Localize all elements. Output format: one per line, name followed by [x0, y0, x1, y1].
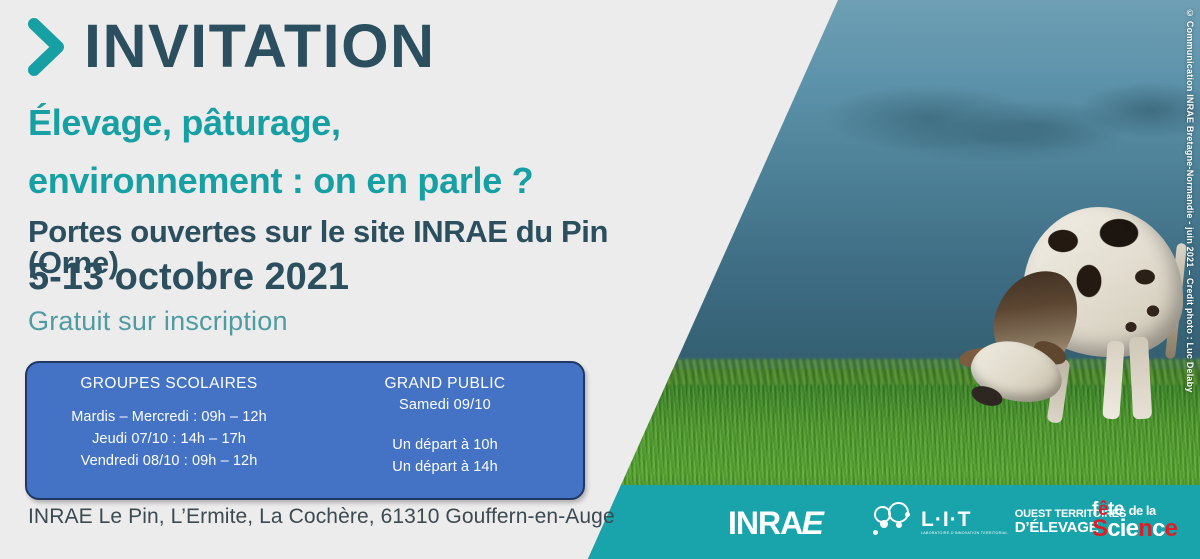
schedule-heading-public: GRAND PUBLIC [307, 375, 583, 393]
fete-line2: Science [1092, 517, 1177, 541]
subtitle-line-2: environnement : on en parle ? [28, 163, 533, 199]
schedule-line: Vendredi 08/10 : 09h – 12h [31, 451, 307, 473]
page-title: INVITATION [84, 16, 436, 77]
content-column: INVITATION Élevage, pâturage, environnem… [0, 0, 700, 559]
lit-mark-icon [872, 500, 916, 544]
fete-de-la-science-logo: fête de la Science [1092, 500, 1177, 541]
invitation-heading-row: INVITATION [28, 16, 436, 77]
schedule-subheading-public: Samedi 09/10 [307, 397, 583, 413]
lit-dot-1 [880, 520, 888, 528]
lit-dot-3 [905, 512, 910, 517]
schedule-lines-schools: Mardis – Mercredi : 09h – 12h Jeudi 07/1… [31, 407, 307, 472]
photo-credit: © Communication INRAE Bretagne-Normandie… [1185, 8, 1195, 393]
lit-letters: L·I·T [921, 509, 1008, 530]
schedule-line: Jeudi 07/10 : 14h – 17h [31, 429, 307, 451]
inrae-logo-text: INRAE [728, 505, 823, 541]
invitation-poster: © Communication INRAE Bretagne-Normandie… [0, 0, 1200, 559]
inrae-swash-e: E [802, 505, 823, 542]
lit-wordmark: L·I·T LABORATOIRE D'INNOVATION TERRITORI… [921, 509, 1008, 536]
venue-address: INRAE Le Pin, L’Ermite, La Cochère, 6131… [28, 505, 615, 529]
schedule-heading-schools: GROUPES SCOLAIRES [31, 375, 307, 393]
schedule-line: Mardis – Mercredi : 09h – 12h [31, 407, 307, 429]
schedule-column-public: GRAND PUBLIC Samedi 09/10 Un départ à 10… [307, 363, 583, 498]
lit-dot-4 [873, 530, 878, 535]
chevron-right-icon [28, 18, 68, 76]
cow-illustration [965, 191, 1195, 441]
schedule-column-schools: GROUPES SCOLAIRES Mardis – Mercredi : 09… [27, 363, 307, 498]
inrae-logo: INRAE [728, 505, 823, 542]
schedule-lines-public: Un départ à 10h Un départ à 14h [307, 435, 583, 479]
lit-dot-2 [896, 522, 902, 528]
schedule-line: Un départ à 14h [307, 457, 583, 479]
lit-caption: LABORATOIRE D'INNOVATION TERRITORIAL [921, 532, 1008, 536]
event-dates: 5-13 octobre 2021 [28, 258, 349, 296]
lit-logo: L·I·T LABORATOIRE D'INNOVATION TERRITORI… [872, 498, 1126, 546]
schedule-box: GROUPES SCOLAIRES Mardis – Mercredi : 09… [25, 361, 585, 500]
free-registration-note: Gratuit sur inscription [28, 308, 288, 335]
schedule-line: Un départ à 10h [307, 435, 583, 457]
subtitle-line-1: Élevage, pâturage, [28, 105, 341, 141]
